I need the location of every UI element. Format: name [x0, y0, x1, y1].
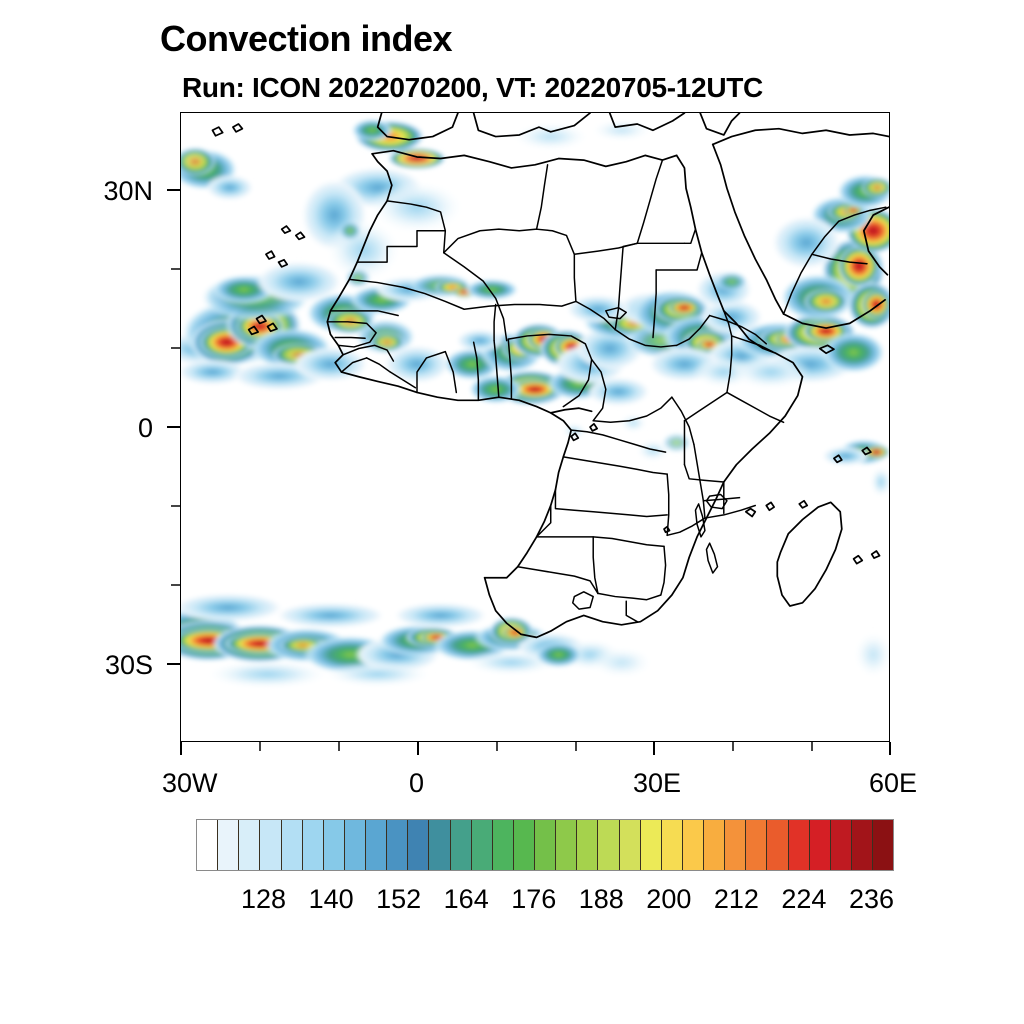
colorbar-band-15 — [514, 820, 535, 870]
colorbar-bands — [196, 819, 894, 871]
colorbar-band-23 — [683, 820, 704, 870]
axis-label-x-30w: 30W — [162, 768, 218, 799]
colorbar-band-13 — [472, 820, 493, 870]
colorbar-band-29 — [810, 820, 831, 870]
colorbar-band-26 — [746, 820, 767, 870]
colorbar-band-31 — [852, 820, 873, 870]
colorbar-tick-label-140: 140 — [309, 884, 354, 915]
colorbar-band-22 — [662, 820, 683, 870]
colorbar-band-14 — [493, 820, 514, 870]
tick-x-40e — [732, 742, 734, 751]
colorbar-tick-label-128: 128 — [241, 884, 286, 915]
tick-x-20w — [259, 742, 261, 751]
convection-index-map — [181, 113, 889, 741]
colorbar-band-4 — [282, 820, 303, 870]
colorbar-band-32 — [873, 820, 893, 870]
tick-y-10n — [171, 347, 180, 349]
colorbar-band-30 — [831, 820, 852, 870]
tick-x-50e — [811, 742, 813, 751]
colorbar-band-8 — [366, 820, 387, 870]
tick-x-30w — [180, 742, 182, 755]
colorbar-tick-label-200: 200 — [646, 884, 691, 915]
colorbar-band-5 — [303, 820, 324, 870]
page-title: Convection index — [160, 18, 452, 60]
colorbar-band-21 — [641, 820, 662, 870]
colorbar-tick-label-236: 236 — [849, 884, 894, 915]
axis-label-x-30e: 30E — [633, 768, 681, 799]
colorbar-band-9 — [387, 820, 408, 870]
colorbar-tick-label-212: 212 — [714, 884, 759, 915]
map-plot-area[interactable] — [180, 112, 890, 742]
colorbar-band-7 — [345, 820, 366, 870]
colorbar-band-25 — [725, 820, 746, 870]
colorbar-band-28 — [789, 820, 810, 870]
tick-y-10s — [171, 505, 180, 507]
colorbar-tick-label-224: 224 — [781, 884, 826, 915]
chart-subtitle: Run: ICON 2022070200, VT: 20220705-12UTC — [182, 72, 763, 104]
axis-label-x-60e: 60E — [869, 768, 917, 799]
colorbar[interactable] — [196, 819, 894, 871]
tick-y-20n — [171, 268, 180, 270]
colorbar-band-2 — [239, 820, 260, 870]
tick-x-10w — [338, 742, 340, 751]
colorbar-band-18 — [577, 820, 598, 870]
colorbar-band-16 — [535, 820, 556, 870]
tick-x-60e — [889, 742, 891, 755]
axis-label-y-0: 0 — [48, 413, 153, 444]
tick-x-10e — [496, 742, 498, 751]
colorbar-band-6 — [324, 820, 345, 870]
tick-y-20s — [171, 584, 180, 586]
colorbar-tick-label-152: 152 — [376, 884, 421, 915]
tick-x-20e — [575, 742, 577, 751]
colorbar-band-20 — [620, 820, 641, 870]
axis-label-x-0: 0 — [409, 768, 424, 799]
tick-y-0 — [167, 426, 180, 428]
tick-x-30e — [653, 742, 655, 755]
colorbar-tick-label-176: 176 — [511, 884, 556, 915]
colorbar-band-27 — [767, 820, 788, 870]
axis-label-y-30n: 30N — [48, 176, 153, 207]
tick-y-30s — [167, 663, 180, 665]
colorbar-band-10 — [408, 820, 429, 870]
colorbar-band-0 — [197, 820, 218, 870]
colorbar-band-19 — [598, 820, 619, 870]
colorbar-band-17 — [556, 820, 577, 870]
colorbar-band-1 — [218, 820, 239, 870]
tick-y-30n — [167, 189, 180, 191]
colorbar-tick-label-188: 188 — [579, 884, 624, 915]
colorbar-tick-labels: 128140152164176188200212224236 — [196, 884, 894, 918]
colorbar-tick-label-164: 164 — [444, 884, 489, 915]
colorbar-band-24 — [704, 820, 725, 870]
colorbar-band-12 — [451, 820, 472, 870]
axis-label-y-30s: 30S — [48, 650, 153, 681]
tick-x-0 — [417, 742, 419, 755]
colorbar-band-11 — [429, 820, 450, 870]
colorbar-band-3 — [260, 820, 281, 870]
